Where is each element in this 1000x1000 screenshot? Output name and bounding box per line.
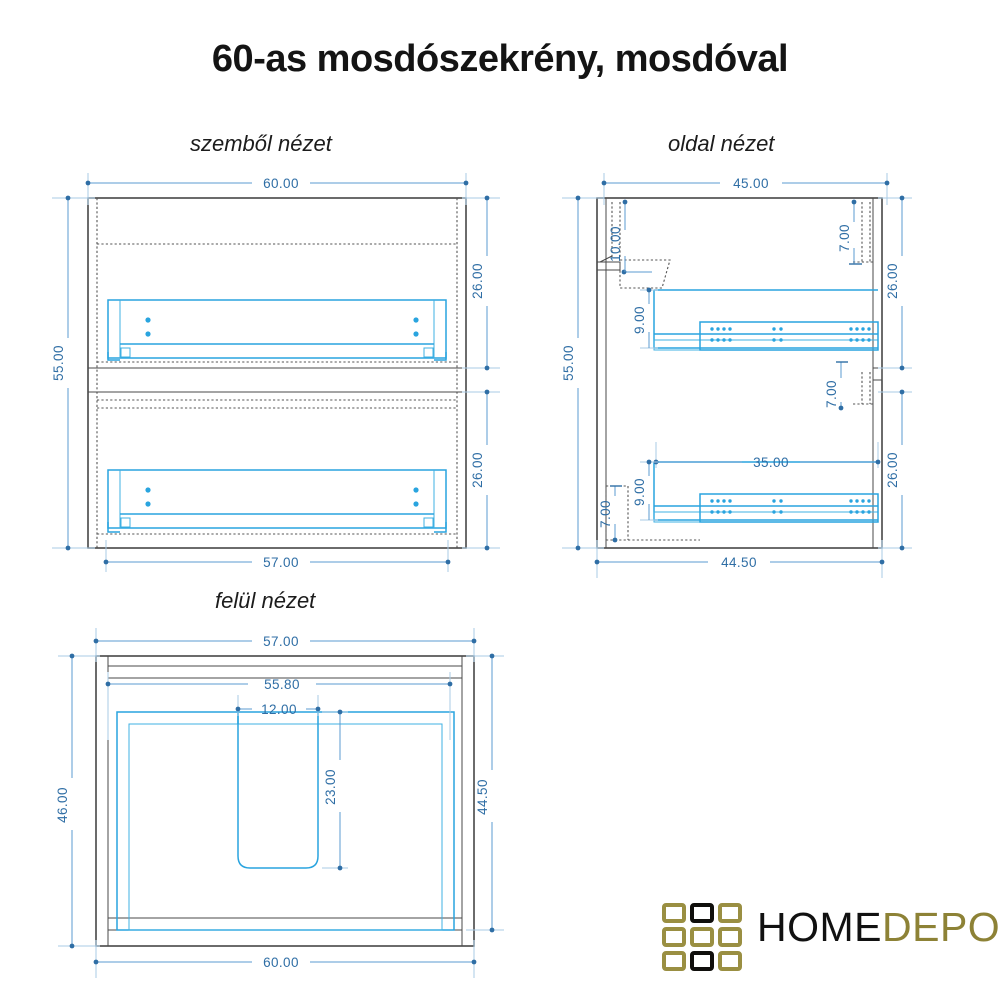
logo-cell-3 — [718, 903, 742, 923]
dim-top-inner-width: 57.00 — [263, 634, 299, 649]
drawing-canvas: 60-as mosdószekrény, mosdóval szemből né… — [0, 0, 1000, 1000]
logo-cell-8 — [690, 951, 714, 971]
logo-cell-9 — [718, 951, 742, 971]
top-view-drawing: 57.00 55.80 12.00 23.00 — [0, 0, 1000, 1000]
brand-name: HOMEDEPO — [757, 907, 1000, 948]
dim-top-cutout-depth: 23.00 — [323, 769, 338, 805]
top-view-dimensions: 57.00 55.80 12.00 23.00 — [55, 628, 504, 978]
brand-name-part2: DEPO — [882, 904, 1000, 950]
nine-square-grid-icon — [662, 903, 746, 975]
dim-top-cutout-width: 12.00 — [261, 702, 297, 717]
dim-top-basin-width: 55.80 — [264, 677, 300, 692]
top-view-geometry — [96, 656, 474, 946]
logo-cell-2 — [690, 903, 714, 923]
logo-cell-5 — [690, 927, 714, 947]
dim-top-outer-depth: 46.00 — [55, 787, 70, 823]
logo-cell-6 — [718, 927, 742, 947]
dim-top-outer-width: 60.00 — [263, 955, 299, 970]
brand-logo: HOMEDEPO — [662, 903, 972, 975]
dim-top-inner-depth: 44.50 — [475, 779, 490, 815]
logo-cell-4 — [662, 927, 686, 947]
brand-name-part1: HOME — [757, 904, 882, 950]
logo-cell-1 — [662, 903, 686, 923]
logo-cell-7 — [662, 951, 686, 971]
